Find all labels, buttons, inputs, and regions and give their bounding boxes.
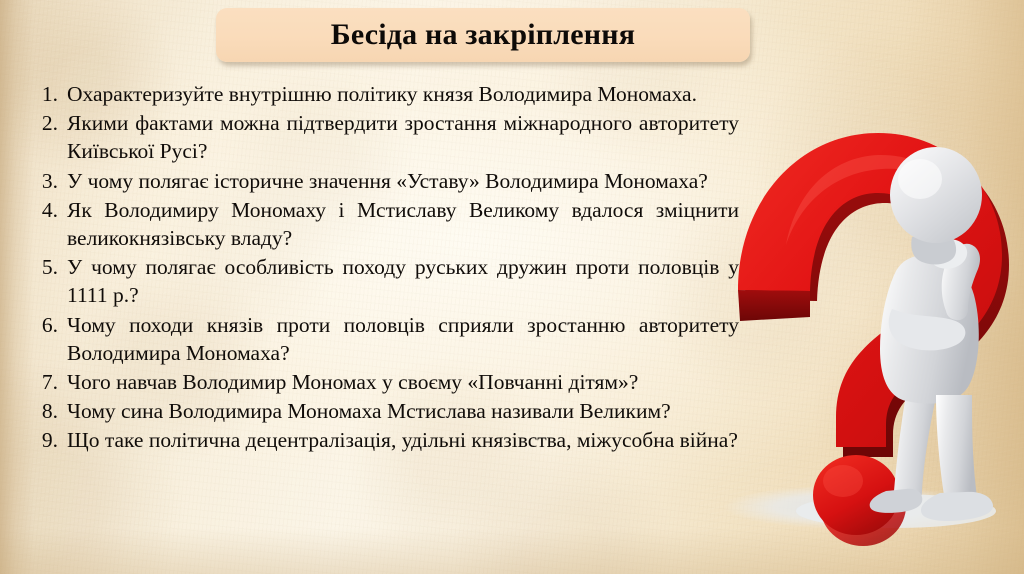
list-item: 7. Чого навчав Володимир Мономах у своєм… bbox=[27, 368, 739, 396]
list-item: 3. У чому полягає історичне значення «Ус… bbox=[27, 167, 739, 195]
list-item: 8. Чому сина Володимира Мономаха Мстисла… bbox=[27, 397, 739, 425]
list-item: 6. Чому походи князів проти половців спр… bbox=[27, 311, 739, 367]
question-list: 1. Охарактеризуйте внутрішню політику кн… bbox=[27, 80, 739, 456]
list-item-number: 2. bbox=[27, 109, 67, 137]
list-item-number: 6. bbox=[27, 311, 67, 339]
list-item-text: Чому сина Володимира Мономаха Мстислава … bbox=[67, 397, 739, 425]
page-title: Бесіда на закріплення bbox=[331, 20, 635, 50]
list-item-number: 9. bbox=[27, 426, 67, 454]
slide-canvas: Бесіда на закріплення 1. Охарактеризуйте… bbox=[0, 0, 1024, 574]
list-item-text: Чому походи князів проти половців сприял… bbox=[67, 311, 739, 367]
list-item-number: 7. bbox=[27, 368, 67, 396]
list-item-text: Що таке політична децентралізація, уділь… bbox=[67, 426, 739, 454]
list-item: 9. Що таке політична децентралізація, уд… bbox=[27, 426, 739, 454]
list-item-text: Як Володимиру Мономаху і Мстиславу Велик… bbox=[67, 196, 739, 252]
list-item-text: Чого навчав Володимир Мономах у своєму «… bbox=[67, 368, 739, 396]
paper-right-edge-shade bbox=[904, 0, 1024, 574]
list-item-number: 8. bbox=[27, 397, 67, 425]
list-item-number: 1. bbox=[27, 80, 67, 108]
list-item-number: 4. bbox=[27, 196, 67, 224]
list-item-number: 3. bbox=[27, 167, 67, 195]
list-item-number: 5. bbox=[27, 253, 67, 281]
list-item: 2. Якими фактами можна підтвердити зрост… bbox=[27, 109, 739, 165]
list-item-text: У чому полягає історичне значення «Устав… bbox=[67, 167, 739, 195]
list-item: 1. Охарактеризуйте внутрішню політику кн… bbox=[27, 80, 739, 108]
list-item-text: Охарактеризуйте внутрішню політику князя… bbox=[67, 80, 739, 108]
list-item-text: Якими фактами можна підтвердити зростанн… bbox=[67, 109, 739, 165]
list-item-text: У чому полягає особливість походу руськи… bbox=[67, 253, 739, 309]
paper-bottom-edge-shade bbox=[0, 528, 1024, 574]
list-item: 5. У чому полягає особливість походу рус… bbox=[27, 253, 739, 309]
title-banner: Бесіда на закріплення bbox=[216, 8, 750, 62]
list-item: 4. Як Володимиру Мономаху і Мстиславу Ве… bbox=[27, 196, 739, 252]
